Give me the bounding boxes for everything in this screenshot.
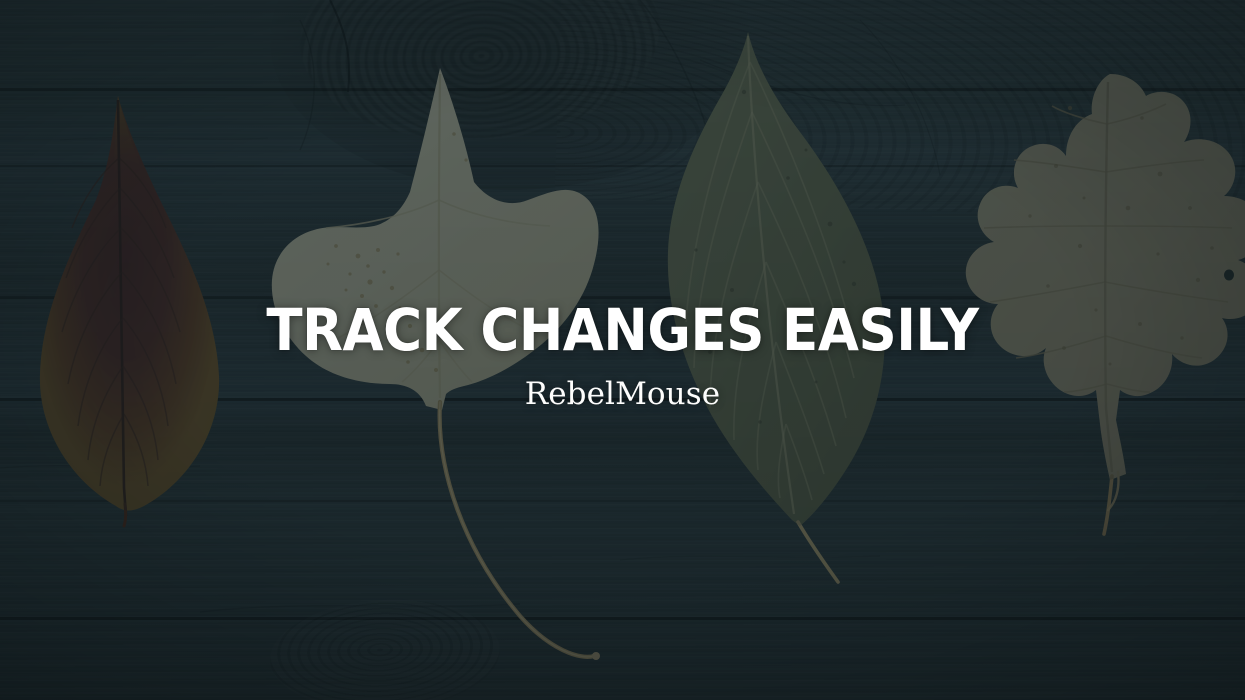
hero-title: TRACK CHANGES EASILY xyxy=(53,300,1192,360)
hero-text-block: TRACK CHANGES EASILY RebelMouse xyxy=(0,300,1245,414)
hero-banner: TRACK CHANGES EASILY RebelMouse xyxy=(0,0,1245,700)
hero-subtitle-brand: RebelMouse xyxy=(0,376,1245,413)
